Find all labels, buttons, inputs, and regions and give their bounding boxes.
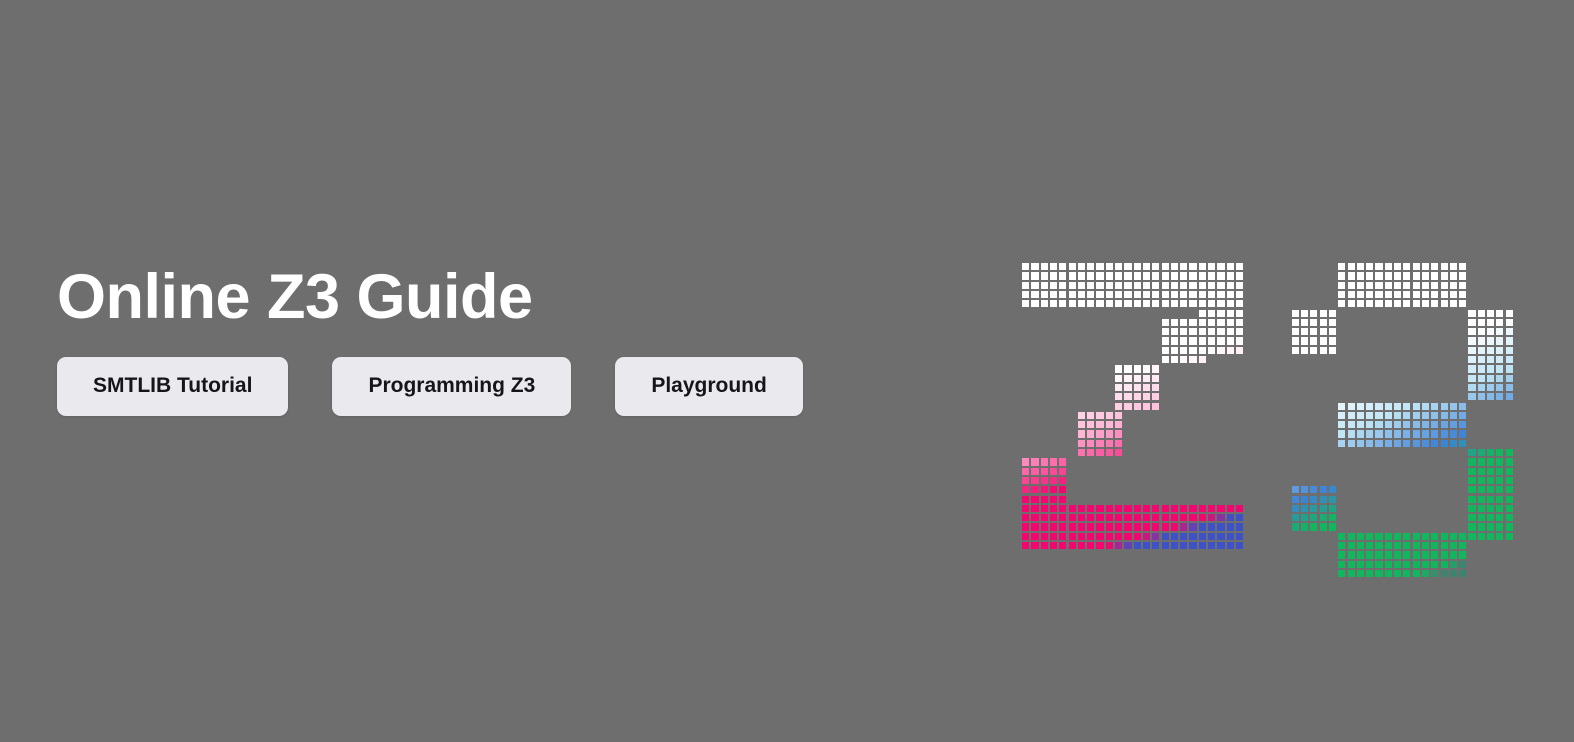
logo-pixel — [1058, 522, 1067, 531]
logo-pixel — [1421, 262, 1430, 271]
logo-pixel — [1235, 281, 1244, 290]
logo-pixel — [1467, 309, 1476, 318]
logo-pixel — [1058, 504, 1067, 513]
logo-pixel — [1030, 476, 1039, 485]
logo-pixel — [1384, 402, 1393, 411]
logo-pixel — [1337, 550, 1346, 559]
logo-pixel — [1207, 522, 1216, 531]
logo-pixel — [1449, 262, 1458, 271]
logo-pixel — [1105, 429, 1114, 438]
logo-pixel — [1105, 420, 1114, 429]
logo-pixel — [1049, 513, 1058, 522]
logo-pixel — [1458, 439, 1467, 448]
logo-pixel — [1049, 299, 1058, 308]
logo-pixel — [1346, 550, 1355, 559]
logo-pixel — [1226, 290, 1235, 299]
logo-pixel — [1384, 290, 1393, 299]
logo-pixel — [1356, 290, 1365, 299]
playground-button[interactable]: Playground — [615, 357, 803, 416]
z3-pixel-logo — [1021, 262, 1521, 587]
logo-pixel — [1095, 439, 1104, 448]
logo-pixel — [1393, 420, 1402, 429]
logo-pixel — [1505, 318, 1514, 327]
logo-pixel — [1356, 262, 1365, 271]
logo-pixel — [1086, 429, 1095, 438]
logo-pixel — [1356, 532, 1365, 541]
logo-pixel — [1030, 522, 1039, 531]
logo-pixel — [1179, 532, 1188, 541]
logo-pixel — [1133, 271, 1142, 280]
logo-pixel — [1477, 364, 1486, 373]
logo-pixel — [1505, 383, 1514, 392]
logo-pixel — [1170, 299, 1179, 308]
logo-pixel — [1188, 336, 1197, 345]
logo-pixel — [1495, 374, 1504, 383]
logo-pixel — [1486, 522, 1495, 531]
logo-pixel — [1412, 429, 1421, 438]
logo-pixel — [1188, 532, 1197, 541]
logo-pixel — [1365, 569, 1374, 578]
logo-pixel — [1439, 420, 1448, 429]
logo-pixel — [1319, 327, 1328, 336]
logo-pixel — [1374, 290, 1383, 299]
logo-pixel — [1337, 290, 1346, 299]
logo-pixel — [1346, 290, 1355, 299]
logo-pixel — [1449, 439, 1458, 448]
logo-pixel — [1477, 522, 1486, 531]
logo-pixel — [1337, 532, 1346, 541]
logo-pixel — [1142, 513, 1151, 522]
logo-pixel — [1495, 336, 1504, 345]
logo-pixel — [1449, 290, 1458, 299]
logo-pixel — [1393, 439, 1402, 448]
logo-pixel — [1123, 299, 1132, 308]
logo-pixel — [1365, 541, 1374, 550]
logo-pixel — [1077, 439, 1086, 448]
logo-pixel — [1477, 504, 1486, 513]
logo-pixel — [1402, 429, 1411, 438]
logo-pixel — [1216, 299, 1225, 308]
logo-pixel — [1309, 327, 1318, 336]
logo-pixel — [1105, 513, 1114, 522]
smtlib-tutorial-button[interactable]: SMTLIB Tutorial — [57, 357, 288, 416]
logo-pixel — [1123, 392, 1132, 401]
logo-pixel — [1142, 402, 1151, 411]
logo-pixel — [1412, 299, 1421, 308]
logo-pixel — [1058, 299, 1067, 308]
logo-pixel — [1421, 439, 1430, 448]
logo-pixel — [1216, 346, 1225, 355]
logo-pixel — [1346, 281, 1355, 290]
logo-pixel — [1105, 448, 1114, 457]
logo-pixel — [1486, 485, 1495, 494]
logo-pixel — [1402, 290, 1411, 299]
logo-pixel — [1161, 262, 1170, 271]
logo-pixel — [1402, 271, 1411, 280]
logo-pixel — [1421, 550, 1430, 559]
logo-pixel — [1170, 262, 1179, 271]
logo-pixel — [1421, 299, 1430, 308]
logo-pixel — [1430, 532, 1439, 541]
logo-pixel — [1319, 309, 1328, 318]
logo-pixel — [1458, 532, 1467, 541]
logo-pixel — [1170, 346, 1179, 355]
logo-pixel — [1477, 532, 1486, 541]
logo-pixel — [1030, 495, 1039, 504]
logo-pixel — [1477, 336, 1486, 345]
logo-pixel — [1421, 532, 1430, 541]
logo-pixel — [1086, 420, 1095, 429]
logo-pixel — [1337, 262, 1346, 271]
logo-pixel — [1393, 429, 1402, 438]
logo-pixel — [1402, 560, 1411, 569]
logo-pixel — [1216, 327, 1225, 336]
logo-pixel — [1309, 522, 1318, 531]
logo-pixel — [1086, 281, 1095, 290]
logo-pixel — [1374, 541, 1383, 550]
logo-pixel — [1105, 271, 1114, 280]
logo-pixel — [1161, 346, 1170, 355]
logo-pixel — [1188, 513, 1197, 522]
logo-pixel — [1495, 364, 1504, 373]
logo-pixel — [1495, 346, 1504, 355]
logo-pixel — [1235, 327, 1244, 336]
logo-pixel — [1412, 439, 1421, 448]
logo-pixel — [1449, 281, 1458, 290]
logo-pixel — [1179, 281, 1188, 290]
logo-pixel — [1235, 262, 1244, 271]
logo-pixel — [1421, 411, 1430, 420]
logo-pixel — [1412, 281, 1421, 290]
logo-pixel — [1123, 513, 1132, 522]
logo-pixel — [1495, 504, 1504, 513]
logo-pixel — [1086, 504, 1095, 513]
logo-pixel — [1179, 327, 1188, 336]
logo-pixel — [1439, 532, 1448, 541]
logo-pixel — [1133, 541, 1142, 550]
logo-pixel — [1467, 346, 1476, 355]
logo-pixel — [1040, 513, 1049, 522]
logo-pixel — [1356, 550, 1365, 559]
logo-pixel — [1328, 327, 1337, 336]
logo-pixel — [1300, 485, 1309, 494]
logo-pixel — [1142, 271, 1151, 280]
logo-pixel — [1449, 271, 1458, 280]
logo-pixel — [1402, 532, 1411, 541]
logo-pixel — [1040, 290, 1049, 299]
logo-pixel — [1133, 392, 1142, 401]
logo-pixel — [1291, 495, 1300, 504]
logo-pixel — [1068, 290, 1077, 299]
logo-pixel — [1412, 420, 1421, 429]
logo-pixel — [1337, 560, 1346, 569]
logo-pixel — [1319, 522, 1328, 531]
logo-pixel — [1077, 448, 1086, 457]
logo-pixel — [1402, 439, 1411, 448]
logo-pixel — [1030, 541, 1039, 550]
logo-pixel — [1477, 467, 1486, 476]
logo-pixel — [1198, 522, 1207, 531]
logo-pixel — [1198, 532, 1207, 541]
logo-pixel — [1421, 541, 1430, 550]
logo-pixel — [1235, 299, 1244, 308]
logo-pixel — [1393, 402, 1402, 411]
logo-pixel — [1123, 281, 1132, 290]
logo-pixel — [1133, 383, 1142, 392]
logo-pixel — [1365, 281, 1374, 290]
logo-pixel — [1309, 513, 1318, 522]
logo-pixel — [1439, 262, 1448, 271]
logo-pixel — [1105, 532, 1114, 541]
logo-pixel — [1458, 299, 1467, 308]
logo-pixel — [1142, 532, 1151, 541]
logo-pixel — [1198, 346, 1207, 355]
logo-pixel — [1198, 299, 1207, 308]
logo-pixel — [1207, 336, 1216, 345]
logo-pixel — [1439, 290, 1448, 299]
logo-pixel — [1068, 271, 1077, 280]
logo-pixel — [1458, 429, 1467, 438]
logo-pixel — [1374, 532, 1383, 541]
logo-pixel — [1077, 532, 1086, 541]
logo-pixel — [1393, 271, 1402, 280]
logo-pixel — [1309, 485, 1318, 494]
logo-pixel — [1291, 327, 1300, 336]
logo-pixel — [1495, 457, 1504, 466]
logo-pixel — [1412, 560, 1421, 569]
logo-pixel — [1430, 569, 1439, 578]
logo-pixel — [1505, 364, 1514, 373]
logo-pixel — [1151, 522, 1160, 531]
logo-pixel — [1328, 485, 1337, 494]
hero-button-row: SMTLIB Tutorial Programming Z3 Playgroun… — [57, 357, 957, 416]
logo-pixel — [1319, 513, 1328, 522]
logo-pixel — [1439, 411, 1448, 420]
logo-pixel — [1477, 392, 1486, 401]
logo-pixel — [1467, 495, 1476, 504]
logo-pixel — [1291, 522, 1300, 531]
logo-pixel — [1105, 522, 1114, 531]
logo-pixel — [1114, 532, 1123, 541]
logo-pixel — [1207, 290, 1216, 299]
logo-pixel — [1226, 327, 1235, 336]
logo-pixel — [1412, 262, 1421, 271]
logo-pixel — [1188, 281, 1197, 290]
logo-pixel — [1486, 448, 1495, 457]
logo-pixel — [1077, 420, 1086, 429]
logo-pixel — [1235, 541, 1244, 550]
logo-pixel — [1040, 467, 1049, 476]
logo-pixel — [1030, 457, 1039, 466]
logo-pixel — [1151, 271, 1160, 280]
logo-pixel — [1356, 299, 1365, 308]
logo-pixel — [1505, 346, 1514, 355]
logo-pixel — [1235, 336, 1244, 345]
logo-pixel — [1207, 299, 1216, 308]
programming-z3-button[interactable]: Programming Z3 — [332, 357, 571, 416]
logo-pixel — [1291, 318, 1300, 327]
logo-pixel — [1216, 513, 1225, 522]
logo-pixel — [1384, 420, 1393, 429]
logo-pixel — [1505, 513, 1514, 522]
logo-pixel — [1412, 411, 1421, 420]
logo-pixel — [1021, 271, 1030, 280]
logo-pixel — [1179, 290, 1188, 299]
logo-pixel — [1188, 522, 1197, 531]
logo-pixel — [1467, 448, 1476, 457]
logo-pixel — [1458, 290, 1467, 299]
logo-pixel — [1374, 271, 1383, 280]
logo-pixel — [1291, 346, 1300, 355]
logo-pixel — [1374, 420, 1383, 429]
logo-pixel — [1058, 485, 1067, 494]
logo-pixel — [1077, 262, 1086, 271]
logo-pixel — [1486, 467, 1495, 476]
logo-pixel — [1170, 355, 1179, 364]
page-title: Online Z3 Guide — [57, 262, 957, 333]
logo-pixel — [1384, 532, 1393, 541]
logo-pixel — [1133, 513, 1142, 522]
logo-pixel — [1365, 532, 1374, 541]
logo-pixel — [1226, 271, 1235, 280]
logo-pixel — [1226, 318, 1235, 327]
logo-pixel — [1114, 290, 1123, 299]
logo-pixel — [1161, 355, 1170, 364]
logo-pixel — [1505, 532, 1514, 541]
logo-pixel — [1337, 281, 1346, 290]
logo-pixel — [1161, 271, 1170, 280]
logo-pixel — [1021, 504, 1030, 513]
logo-pixel — [1049, 532, 1058, 541]
logo-pixel — [1198, 541, 1207, 550]
logo-pixel — [1477, 309, 1486, 318]
logo-pixel — [1161, 299, 1170, 308]
logo-pixel — [1123, 522, 1132, 531]
logo-pixel — [1412, 541, 1421, 550]
logo-pixel — [1114, 262, 1123, 271]
logo-pixel — [1123, 290, 1132, 299]
logo-pixel — [1133, 532, 1142, 541]
logo-pixel — [1235, 271, 1244, 280]
logo-pixel — [1151, 374, 1160, 383]
logo-pixel — [1040, 532, 1049, 541]
logo-pixel — [1505, 327, 1514, 336]
logo-pixel — [1467, 485, 1476, 494]
logo-pixel — [1142, 522, 1151, 531]
logo-pixel — [1207, 309, 1216, 318]
logo-pixel — [1021, 541, 1030, 550]
logo-pixel — [1235, 290, 1244, 299]
logo-pixel — [1077, 541, 1086, 550]
logo-pixel — [1384, 429, 1393, 438]
logo-pixel — [1495, 485, 1504, 494]
logo-pixel — [1328, 309, 1337, 318]
logo-pixel — [1300, 309, 1309, 318]
logo-pixel — [1439, 550, 1448, 559]
logo-pixel — [1458, 402, 1467, 411]
logo-pixel — [1356, 569, 1365, 578]
logo-pixel — [1040, 281, 1049, 290]
logo-pixel — [1356, 411, 1365, 420]
logo-pixel — [1486, 504, 1495, 513]
logo-pixel — [1049, 495, 1058, 504]
logo-pixel — [1495, 522, 1504, 531]
logo-pixel — [1114, 402, 1123, 411]
logo-pixel — [1319, 495, 1328, 504]
logo-pixel — [1049, 504, 1058, 513]
logo-pixel — [1384, 550, 1393, 559]
logo-pixel — [1105, 504, 1114, 513]
logo-pixel — [1486, 383, 1495, 392]
logo-pixel — [1077, 271, 1086, 280]
logo-pixel — [1374, 569, 1383, 578]
logo-pixel — [1161, 513, 1170, 522]
logo-pixel — [1030, 262, 1039, 271]
logo-pixel — [1486, 355, 1495, 364]
logo-pixel — [1346, 411, 1355, 420]
logo-pixel — [1207, 271, 1216, 280]
logo-pixel — [1439, 299, 1448, 308]
logo-pixel — [1346, 429, 1355, 438]
logo-pixel — [1449, 569, 1458, 578]
logo-pixel — [1049, 476, 1058, 485]
logo-pixel — [1337, 420, 1346, 429]
logo-pixel — [1374, 439, 1383, 448]
logo-pixel — [1402, 569, 1411, 578]
logo-pixel — [1374, 560, 1383, 569]
logo-pixel — [1114, 541, 1123, 550]
logo-pixel — [1226, 541, 1235, 550]
logo-pixel — [1095, 290, 1104, 299]
logo-pixel — [1346, 532, 1355, 541]
logo-pixel — [1207, 513, 1216, 522]
logo-pixel — [1216, 504, 1225, 513]
logo-pixel — [1123, 504, 1132, 513]
logo-pixel — [1495, 467, 1504, 476]
logo-pixel — [1505, 374, 1514, 383]
logo-pixel — [1328, 522, 1337, 531]
logo-pixel — [1300, 513, 1309, 522]
logo-pixel — [1430, 429, 1439, 438]
logo-pixel — [1207, 346, 1216, 355]
logo-pixel — [1086, 522, 1095, 531]
logo-pixel — [1188, 290, 1197, 299]
logo-pixel — [1142, 383, 1151, 392]
logo-pixel — [1226, 532, 1235, 541]
logo-pixel — [1328, 504, 1337, 513]
logo-pixel — [1040, 476, 1049, 485]
logo-pixel — [1095, 299, 1104, 308]
logo-pixel — [1179, 355, 1188, 364]
logo-pixel — [1412, 271, 1421, 280]
logo-pixel — [1337, 299, 1346, 308]
logo-pixel — [1439, 429, 1448, 438]
logo-pixel — [1458, 569, 1467, 578]
logo-pixel — [1123, 374, 1132, 383]
logo-pixel — [1170, 504, 1179, 513]
logo-pixel — [1449, 560, 1458, 569]
logo-pixel — [1123, 383, 1132, 392]
logo-pixel — [1467, 327, 1476, 336]
logo-pixel — [1216, 532, 1225, 541]
logo-pixel — [1040, 495, 1049, 504]
logo-pixel — [1458, 262, 1467, 271]
logo-pixel — [1114, 448, 1123, 457]
logo-pixel — [1021, 476, 1030, 485]
logo-pixel — [1077, 429, 1086, 438]
logo-pixel — [1458, 550, 1467, 559]
logo-pixel — [1198, 327, 1207, 336]
